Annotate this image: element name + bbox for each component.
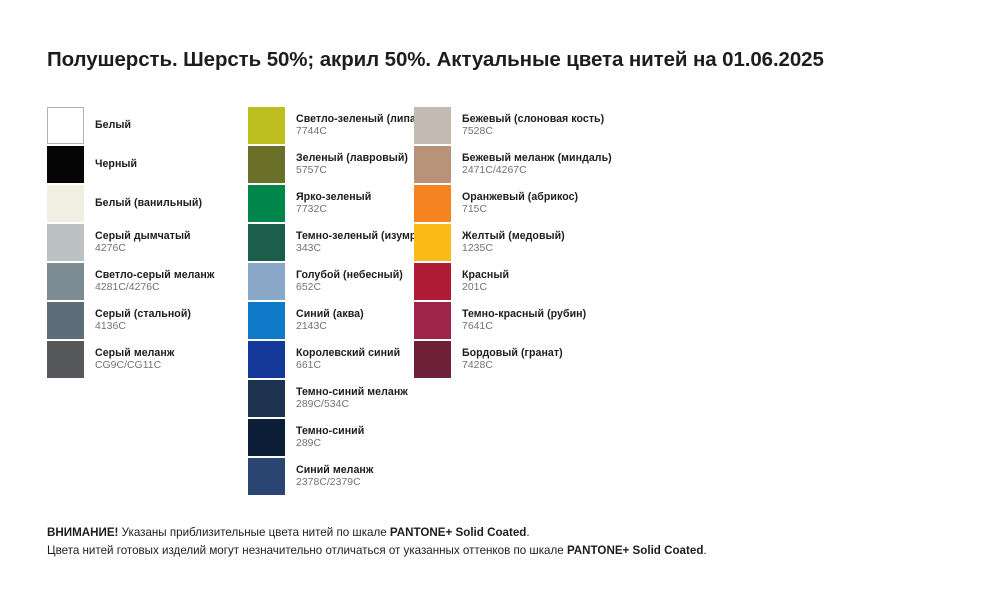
color-label-group: Темно-синий меланж289C/534C <box>296 380 408 417</box>
pantone-code: 4136C <box>95 321 191 333</box>
color-swatch <box>47 263 84 300</box>
color-swatch <box>414 146 451 183</box>
color-name: Белый (ванильный) <box>95 197 202 210</box>
color-swatch <box>414 341 451 378</box>
color-swatch <box>248 185 285 222</box>
footer-line-1-text: Указаны приблизительные цвета нитей по ш… <box>118 526 389 539</box>
color-label-group: Черный <box>95 146 137 183</box>
pantone-code: 7428C <box>462 360 563 372</box>
color-swatch <box>47 302 84 339</box>
color-label-group: Серый меланжCG9C/CG11C <box>95 341 174 378</box>
pantone-code: 5757C <box>296 165 408 177</box>
color-row: Светло-серый меланж4281C/4276C <box>47 263 247 302</box>
color-swatch <box>248 302 285 339</box>
color-swatch <box>248 341 285 378</box>
color-name: Бежевый (слоновая кость) <box>462 113 604 126</box>
color-row: Серый меланжCG9C/CG11C <box>47 341 247 380</box>
color-name: Голубой (небесный) <box>296 269 403 282</box>
pantone-code: 289C <box>296 438 364 450</box>
color-swatch <box>47 107 84 144</box>
color-label-group: Бежевый (слоновая кость)7528C <box>462 107 604 144</box>
color-label-group: Светло-зеленый (липа)7744C <box>296 107 419 144</box>
color-row: Белый <box>47 107 247 146</box>
color-label-group: Красный201C <box>462 263 509 300</box>
color-label-group: Королевский синий661C <box>296 341 400 378</box>
color-row: Темно-синий меланж289C/534C <box>248 380 448 419</box>
pantone-code: 2471C/4267C <box>462 165 612 177</box>
color-name: Ярко-зеленый <box>296 191 371 204</box>
color-name: Серый дымчатый <box>95 230 191 243</box>
color-label-group: Бордовый (гранат)7428C <box>462 341 563 378</box>
color-swatch <box>248 107 285 144</box>
footer-line-2-end: . <box>703 544 706 557</box>
color-name: Королевский синий <box>296 347 400 360</box>
footer-disclaimer: ВНИМАНИЕ! Указаны приблизительные цвета … <box>47 524 947 560</box>
color-row: Серый (стальной)4136C <box>47 302 247 341</box>
color-name: Зеленый (лавровый) <box>296 152 408 165</box>
color-label-group: Ярко-зеленый7732C <box>296 185 371 222</box>
color-swatch <box>248 380 285 417</box>
color-row: Черный <box>47 146 247 185</box>
color-label-group: Светло-серый меланж4281C/4276C <box>95 263 214 300</box>
color-name: Серый (стальной) <box>95 308 191 321</box>
color-row: Белый (ванильный) <box>47 185 247 224</box>
color-name: Серый меланж <box>95 347 174 360</box>
color-swatch <box>248 458 285 495</box>
color-name: Синий меланж <box>296 464 373 477</box>
color-swatch <box>248 224 285 261</box>
color-label-group: Белый (ванильный) <box>95 185 202 222</box>
pantone-code: 7732C <box>296 204 371 216</box>
color-label-group: Оранжевый (абрикос)715C <box>462 185 578 222</box>
pantone-code: 4276C <box>95 243 191 255</box>
color-label-group: Белый <box>95 107 131 144</box>
color-name: Белый <box>95 119 131 132</box>
color-swatch <box>47 341 84 378</box>
color-chart-page: Полушерсть. Шерсть 50%; акрил 50%. Актуа… <box>0 0 1000 609</box>
color-row: Бежевый меланж (миндаль)2471C/4267C <box>414 146 644 185</box>
color-label-group: Синий меланж2378C/2379C <box>296 458 373 495</box>
pantone-code: 7528C <box>462 126 604 138</box>
color-name: Темно-зеленый (изумруд) <box>296 230 432 243</box>
pantone-code: 715C <box>462 204 578 216</box>
color-swatch <box>414 263 451 300</box>
color-row: Бордовый (гранат)7428C <box>414 341 644 380</box>
color-label-group: Голубой (небесный)652C <box>296 263 403 300</box>
color-name: Светло-зеленый (липа) <box>296 113 419 126</box>
color-swatch <box>47 185 84 222</box>
color-swatch <box>414 107 451 144</box>
color-swatch <box>47 146 84 183</box>
footer-line-2-text: Цвета нитей готовых изделий могут незнач… <box>47 544 567 557</box>
footer-brand-2: PANTONE+ Solid Coated <box>567 544 703 557</box>
color-row: Оранжевый (абрикос)715C <box>414 185 644 224</box>
color-name: Синий (аква) <box>296 308 364 321</box>
pantone-code: CG9C/CG11C <box>95 360 174 372</box>
color-row: Темно-синий289C <box>248 419 448 458</box>
color-name: Темно-синий <box>296 425 364 438</box>
color-name: Красный <box>462 269 509 282</box>
pantone-code: 661C <box>296 360 400 372</box>
pantone-code: 201C <box>462 282 509 294</box>
footer-line-2: Цвета нитей готовых изделий могут незнач… <box>47 542 947 560</box>
color-label-group: Темно-красный (рубин)7641C <box>462 302 586 339</box>
color-label-group: Синий (аква)2143C <box>296 302 364 339</box>
color-label-group: Темно-синий289C <box>296 419 364 456</box>
color-label-group: Зеленый (лавровый)5757C <box>296 146 408 183</box>
color-name: Бежевый меланж (миндаль) <box>462 152 612 165</box>
color-swatch <box>414 302 451 339</box>
color-name: Оранжевый (абрикос) <box>462 191 578 204</box>
color-row: Желтый (медовый)1235C <box>414 224 644 263</box>
pantone-code: 652C <box>296 282 403 294</box>
color-swatch <box>248 263 285 300</box>
pantone-code: 343C <box>296 243 432 255</box>
color-label-group: Бежевый меланж (миндаль)2471C/4267C <box>462 146 612 183</box>
pantone-code: 289C/534C <box>296 399 408 411</box>
color-swatch <box>248 146 285 183</box>
pantone-code: 7744C <box>296 126 419 138</box>
color-label-group: Серый дымчатый4276C <box>95 224 191 261</box>
color-label-group: Серый (стальной)4136C <box>95 302 191 339</box>
color-name: Темно-красный (рубин) <box>462 308 586 321</box>
color-column-3: Бежевый (слоновая кость)7528CБежевый мел… <box>414 107 644 380</box>
pantone-code: 4281C/4276C <box>95 282 214 294</box>
color-swatch <box>248 419 285 456</box>
color-swatch <box>414 185 451 222</box>
pantone-code: 2378C/2379C <box>296 477 373 489</box>
pantone-code: 2143C <box>296 321 364 333</box>
color-name: Желтый (медовый) <box>462 230 565 243</box>
color-row: Красный201C <box>414 263 644 302</box>
footer-line-1: ВНИМАНИЕ! Указаны приблизительные цвета … <box>47 524 947 542</box>
color-label-group: Желтый (медовый)1235C <box>462 224 565 261</box>
color-label-group: Темно-зеленый (изумруд)343C <box>296 224 432 261</box>
color-swatch <box>414 224 451 261</box>
footer-brand-1: PANTONE+ Solid Coated <box>390 526 526 539</box>
color-name: Бордовый (гранат) <box>462 347 563 360</box>
footer-attention-label: ВНИМАНИЕ! <box>47 526 118 539</box>
color-name: Светло-серый меланж <box>95 269 214 282</box>
color-swatch <box>47 224 84 261</box>
page-title: Полушерсть. Шерсть 50%; акрил 50%. Актуа… <box>47 48 824 72</box>
color-name: Черный <box>95 158 137 171</box>
pantone-code: 1235C <box>462 243 565 255</box>
color-row: Бежевый (слоновая кость)7528C <box>414 107 644 146</box>
pantone-code: 7641C <box>462 321 586 333</box>
color-name: Темно-синий меланж <box>296 386 408 399</box>
footer-line-1-end: . <box>526 526 529 539</box>
color-row: Темно-красный (рубин)7641C <box>414 302 644 341</box>
color-row: Серый дымчатый4276C <box>47 224 247 263</box>
color-row: Синий меланж2378C/2379C <box>248 458 448 497</box>
color-column-1: БелыйЧерныйБелый (ванильный)Серый дымчат… <box>47 107 247 380</box>
